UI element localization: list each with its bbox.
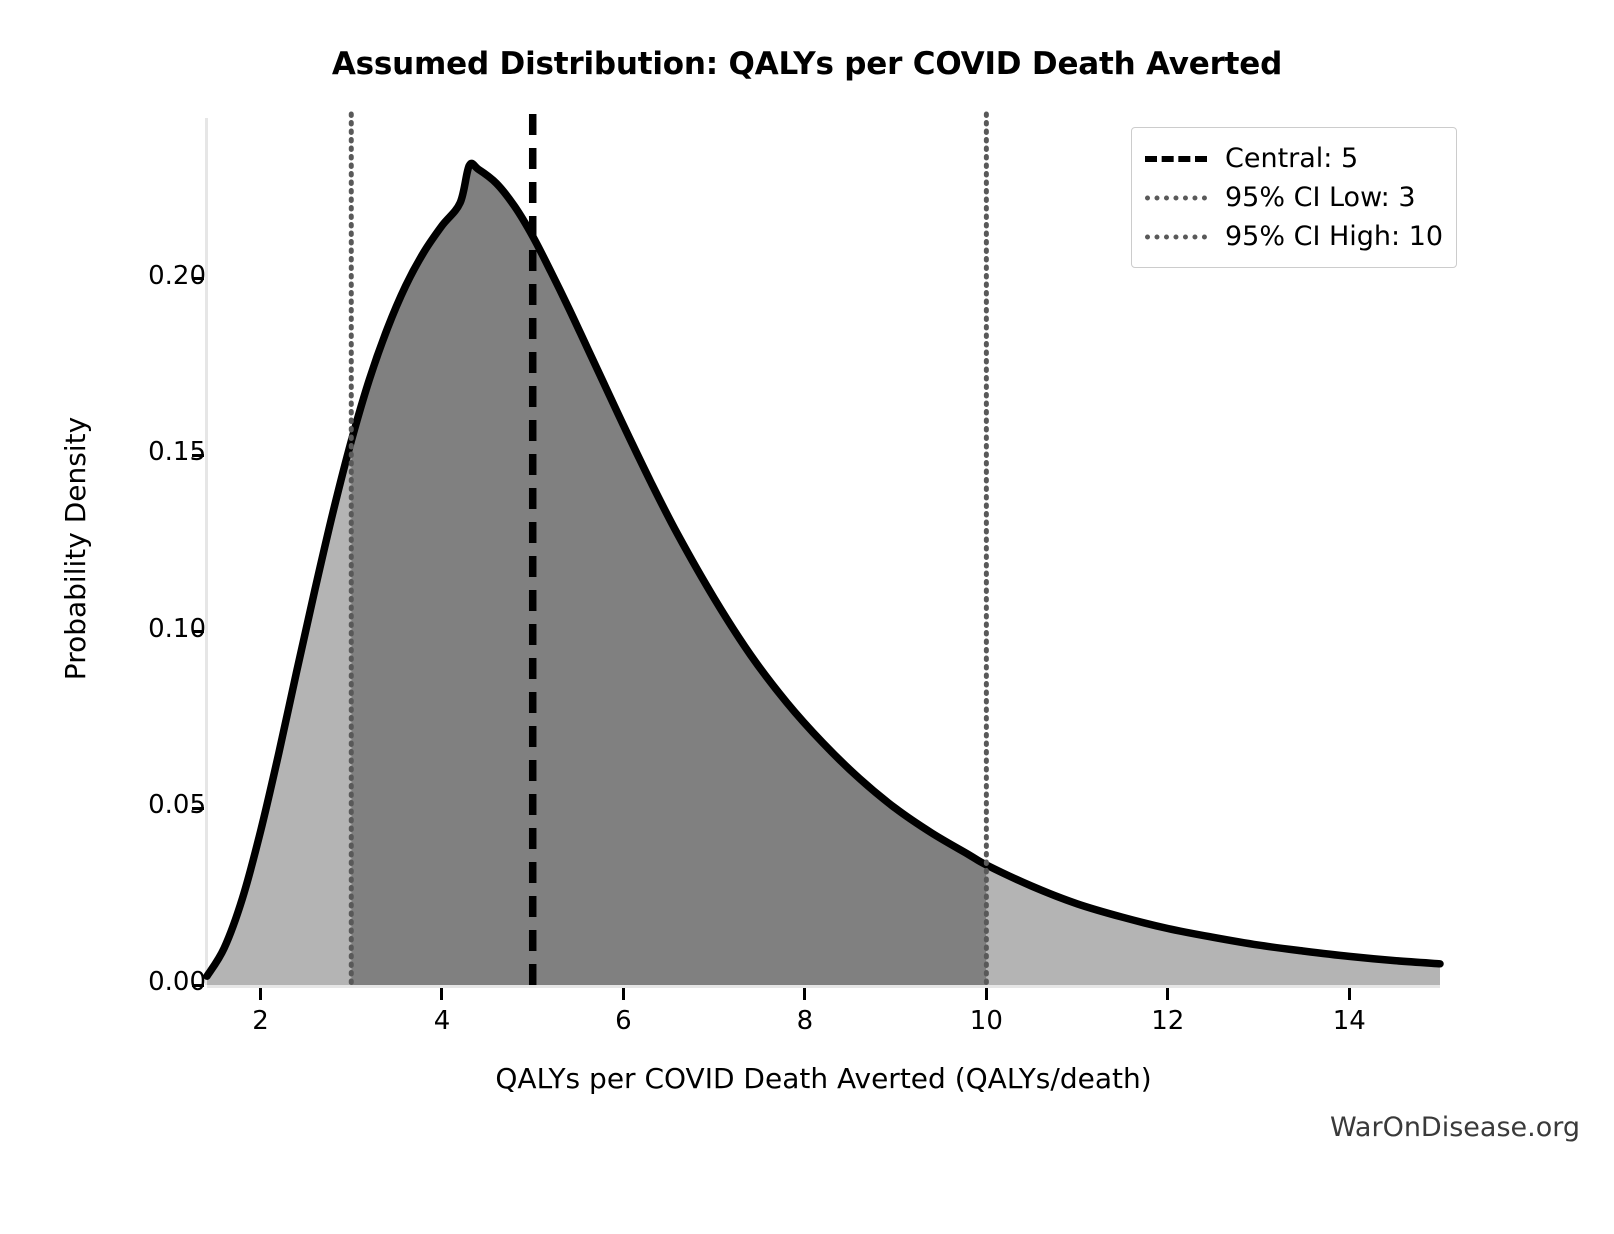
x-tick-label: 4	[434, 1006, 451, 1036]
watermark: WarOnDisease.org	[1330, 1112, 1580, 1143]
legend-item-label: Central: 5	[1225, 143, 1358, 174]
x-tick-label: 14	[1333, 1006, 1366, 1036]
y-axis-label: Probability Density	[59, 115, 92, 982]
dotted-line-icon	[1145, 188, 1207, 208]
x-tick-mark	[803, 988, 806, 1000]
dotted-line-icon	[1145, 227, 1207, 247]
y-tick-label: 0.15	[148, 437, 206, 467]
x-axis-label: QALYs per COVID Death Averted (QALYs/dea…	[207, 1062, 1440, 1095]
y-tick-label: 0.20	[148, 261, 206, 291]
chart-figure: Assumed Distribution: QALYs per COVID De…	[0, 0, 1614, 1234]
x-tick-mark	[1348, 988, 1351, 1000]
legend-item[interactable]: 95% CI Low: 3	[1145, 178, 1443, 217]
x-tick-mark	[259, 988, 262, 1000]
y-tick-label: 0.00	[148, 967, 206, 997]
x-tick-label: 6	[615, 1006, 632, 1036]
x-tick-mark	[622, 988, 625, 1000]
legend-item[interactable]: 95% CI High: 10	[1145, 217, 1443, 256]
chart-legend: Central: 5 95% CI Low: 3 95% CI High: 10	[1131, 127, 1457, 268]
y-tick-label: 0.05	[148, 790, 206, 820]
x-tick-label: 2	[252, 1006, 269, 1036]
x-tick-mark	[1166, 988, 1169, 1000]
legend-item-label: 95% CI Low: 3	[1225, 182, 1416, 213]
legend-item[interactable]: Central: 5	[1145, 139, 1443, 178]
x-tick-mark	[985, 988, 988, 1000]
fill-inside-ci	[207, 163, 1440, 985]
dashed-line-icon	[1145, 149, 1207, 169]
y-tick-label: 0.10	[148, 614, 206, 644]
legend-item-label: 95% CI High: 10	[1225, 221, 1443, 252]
chart-title: Assumed Distribution: QALYs per COVID De…	[0, 46, 1614, 82]
x-tick-label: 10	[970, 1006, 1003, 1036]
x-tick-label: 8	[797, 1006, 814, 1036]
x-tick-mark	[440, 988, 443, 1000]
x-tick-label: 12	[1151, 1006, 1184, 1036]
